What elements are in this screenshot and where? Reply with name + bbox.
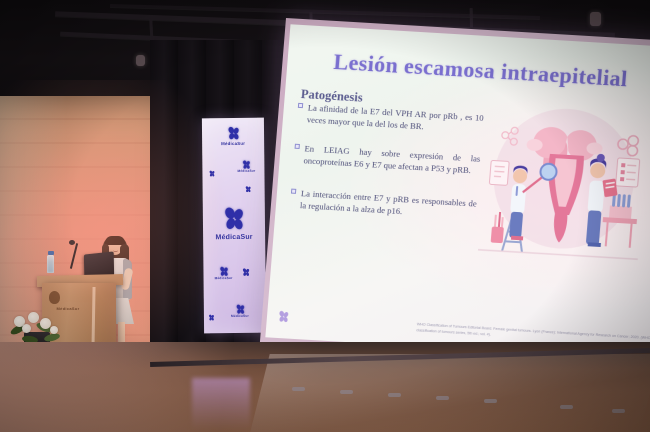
banner-logo-small: MédicaSur bbox=[230, 160, 262, 174]
stage-edge-light bbox=[484, 399, 497, 403]
flower-bloom bbox=[22, 324, 31, 333]
banner-brand-label: MédicaSur bbox=[230, 170, 262, 174]
slide-corner-logo bbox=[276, 310, 290, 329]
uterus-research-graphic bbox=[473, 98, 650, 275]
researcher-with-magnifier bbox=[508, 162, 557, 242]
banner-logo-tiny bbox=[245, 186, 252, 193]
projection-screen: Lesión escamosa intraepitelial Patogénes… bbox=[260, 18, 650, 370]
floor-reflection bbox=[250, 354, 650, 432]
banner-brand-label: MédicaSur bbox=[206, 277, 242, 281]
screen-frame: Lesión escamosa intraepitelial Patogénes… bbox=[260, 18, 650, 370]
molecule-icon-left bbox=[501, 127, 518, 146]
banner-brand-label: MédicaSur bbox=[203, 234, 265, 242]
flower-bloom bbox=[28, 312, 39, 323]
banner-brand-label: MédicaSur bbox=[208, 142, 258, 147]
list-item: La interacción entre E7 y pRB es respons… bbox=[290, 186, 478, 222]
slide-bullet-list: La afinidad de la E7 del VPH AR por pRb … bbox=[289, 101, 485, 234]
bullet-text: La afinidad de la E7 del VPH AR por pRb … bbox=[306, 101, 484, 136]
stage-edge-light bbox=[388, 393, 401, 397]
sponsor-banner: MédicaSur MédicaSur bbox=[202, 118, 266, 334]
molecule-icon bbox=[617, 135, 639, 156]
banner-logo-tiny bbox=[208, 170, 215, 177]
stage-edge-light bbox=[292, 387, 305, 391]
banner-logo-large: MédicaSur bbox=[203, 206, 265, 242]
banner-logo-tiny bbox=[208, 314, 215, 321]
slide-illustration bbox=[473, 98, 650, 275]
banner-logo-tiny bbox=[241, 268, 250, 277]
bullet-text: En LEIAG hay sobre expresión de las onco… bbox=[303, 142, 481, 177]
banner-logo-small: MédicaSur bbox=[208, 126, 258, 147]
banner-logo-small: MédicaSur bbox=[205, 266, 241, 281]
flower-bloom bbox=[40, 318, 51, 329]
stage-edge-light bbox=[612, 409, 625, 413]
wall-chart bbox=[616, 158, 640, 187]
wall-chart-left bbox=[489, 160, 509, 185]
stage-edge-light bbox=[560, 405, 573, 409]
test-tubes bbox=[612, 194, 631, 208]
conference-photo-scene: MédicaSur MédicaSur bbox=[0, 0, 650, 432]
microphone-head-icon bbox=[69, 240, 75, 245]
banner-logo-small: MédicaSur bbox=[222, 304, 258, 319]
flower-bloom bbox=[50, 326, 58, 334]
ceiling-spotlight bbox=[590, 12, 601, 26]
banner-reflection bbox=[192, 378, 250, 430]
checkbox-bullet-icon bbox=[291, 188, 296, 193]
list-item: En LEIAG hay sobre expresión de las onco… bbox=[293, 142, 481, 178]
checkbox-bullet-icon bbox=[298, 103, 303, 108]
banner-brand-label: MédicaSur bbox=[222, 315, 258, 319]
stage-edge-light bbox=[436, 396, 449, 400]
ceiling-spotlight bbox=[136, 55, 145, 66]
bullet-text: La interacción entre E7 y pRB es respons… bbox=[299, 187, 477, 222]
slide-title: Lesión escamosa intraepitelial bbox=[333, 49, 629, 92]
pencil-cup bbox=[491, 212, 505, 244]
water-bottle bbox=[47, 255, 54, 273]
stage-edge-light bbox=[340, 390, 353, 394]
bottle-cap bbox=[48, 251, 54, 255]
presentation-slide: Lesión escamosa intraepitelial Patogénes… bbox=[265, 24, 650, 360]
list-item: La afinidad de la E7 del VPH AR por pRb … bbox=[296, 101, 484, 137]
checkbox-bullet-icon bbox=[295, 144, 300, 149]
